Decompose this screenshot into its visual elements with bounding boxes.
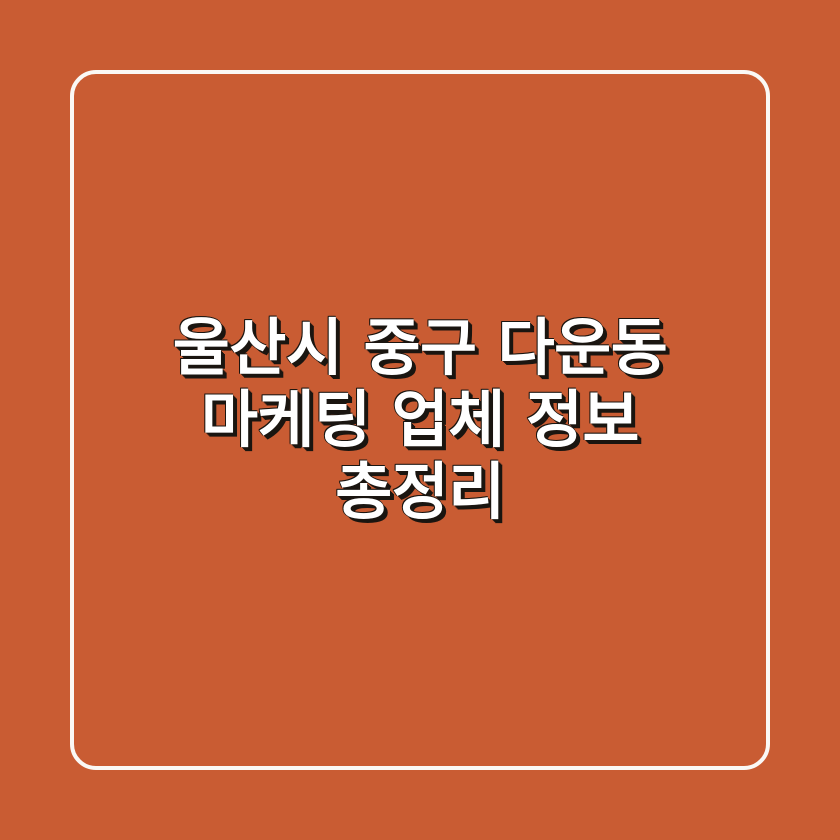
headline-line-1: 울산시 중구 다운동 <box>94 312 746 384</box>
headline-block: 울산시 중구 다운동 마케팅 업체 정보 총정리 <box>70 70 770 770</box>
headline-line-2: 마케팅 업체 정보 <box>94 384 746 456</box>
headline-line-3: 총정리 <box>94 456 746 528</box>
thumbnail-card: 울산시 중구 다운동 마케팅 업체 정보 총정리 <box>0 0 840 840</box>
